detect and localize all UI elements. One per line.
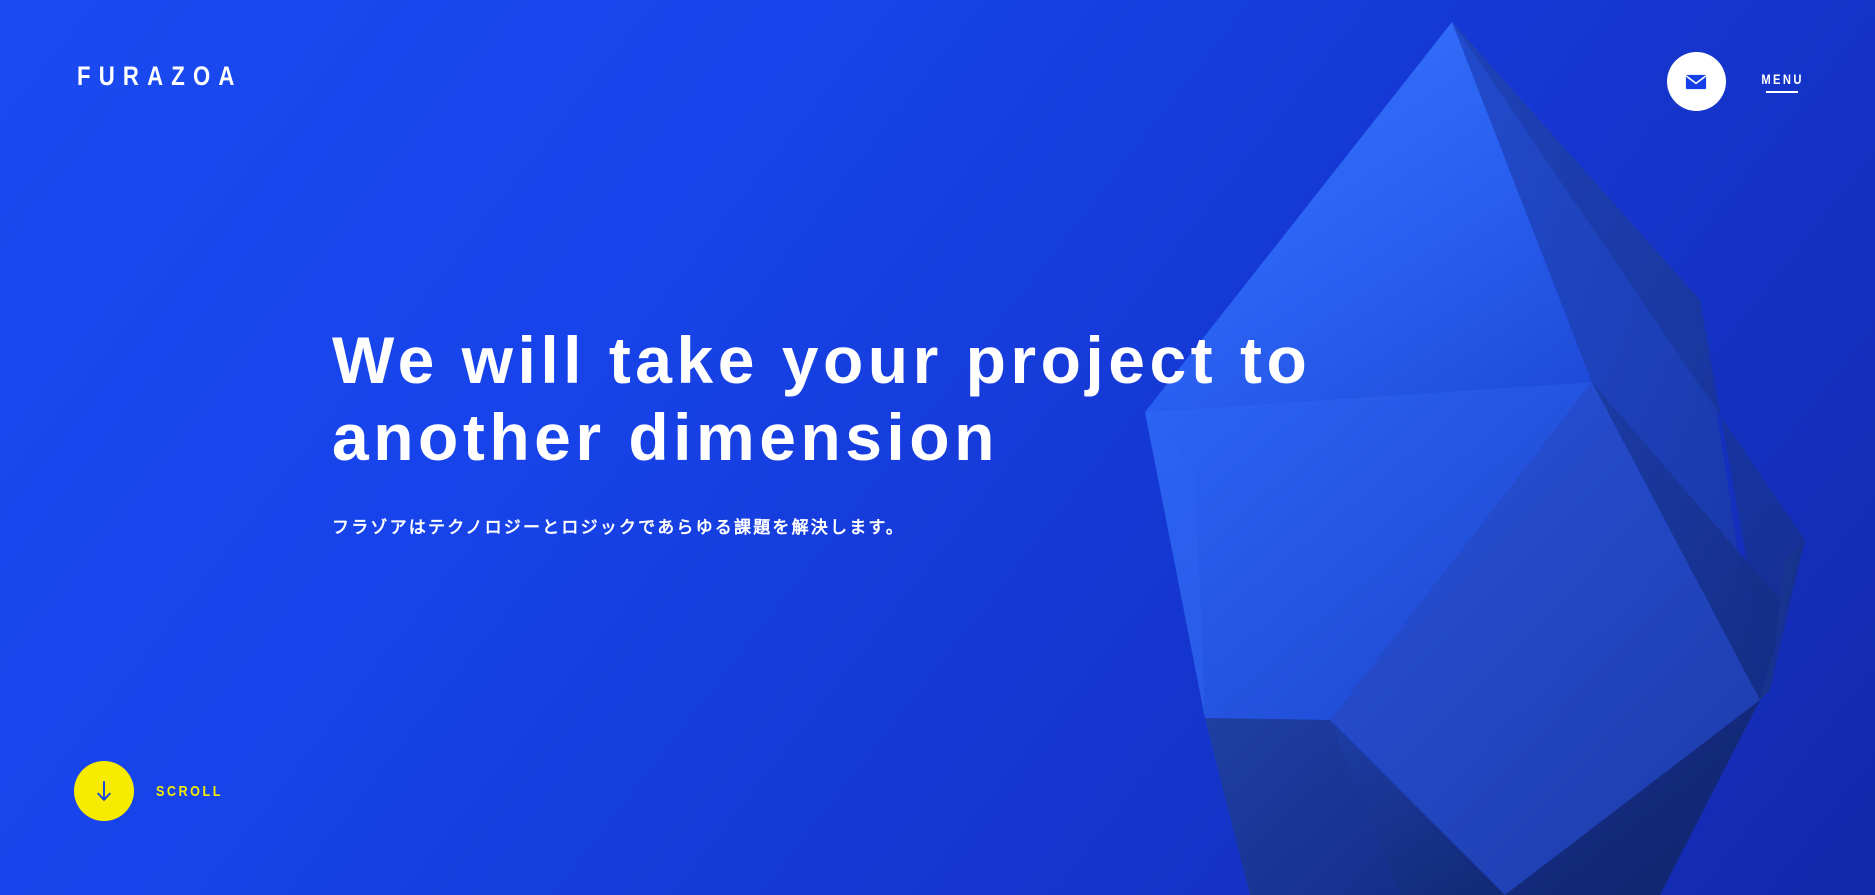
hero-subheadline: フラゾアはテクノロジーとロジックであらゆる課題を解決します。 bbox=[332, 514, 1311, 541]
arrow-down-icon bbox=[95, 779, 113, 803]
site-header: FURAZOA MENU bbox=[0, 0, 1875, 140]
menu-label: MENU bbox=[1761, 72, 1804, 86]
menu-underline bbox=[1766, 91, 1798, 93]
hero-section: FURAZOA MENU We will take your project t… bbox=[0, 0, 1875, 895]
scroll-circle bbox=[74, 761, 134, 821]
scroll-label: SCROLL bbox=[156, 784, 223, 799]
header-actions: MENU bbox=[1667, 52, 1809, 111]
scroll-down-button[interactable]: SCROLL bbox=[74, 761, 236, 821]
hero-headline: We will take your project to another dim… bbox=[332, 322, 1311, 476]
hero-copy: We will take your project to another dim… bbox=[332, 322, 1311, 542]
mail-contact-button[interactable] bbox=[1667, 52, 1726, 111]
menu-toggle-button[interactable]: MENU bbox=[1756, 72, 1809, 93]
site-logo[interactable]: FURAZOA bbox=[77, 63, 243, 90]
mail-envelope-icon bbox=[1685, 74, 1707, 90]
